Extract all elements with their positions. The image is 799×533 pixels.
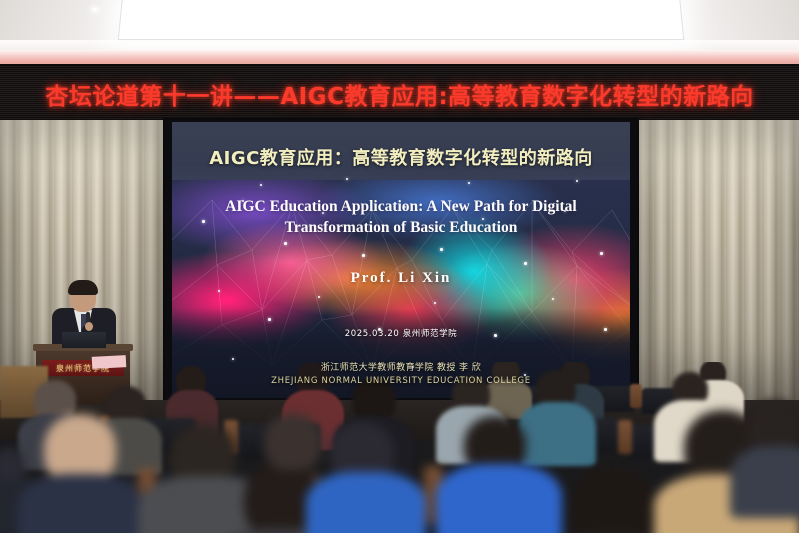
person-head [264,414,322,470]
slide-star-dot [218,290,220,292]
audience-area [0,362,799,533]
person-torso [518,402,596,466]
person-head [570,466,654,533]
slide-presenter-name: Prof. Li Xin [172,270,630,287]
slide-title-cn: AIGC教育应用：高等教育数字化转型的新路向 [172,144,630,170]
slide-star-dot [346,178,348,180]
slide-star-dot [524,262,527,265]
presenter-hair [68,280,98,295]
slide-star-dot [318,296,320,298]
slide-star-dot [576,180,578,182]
led-banner: 杏坛论道第十一讲——AIGC教育应用:高等教育数字化转型的新路向 [0,64,799,125]
person-torso [436,464,562,533]
projection-screen-frame: AIGC教育应用：高等教育数字化转型的新路向 AIGC Education Ap… [165,120,637,402]
slide-star-dot [362,254,365,257]
seat-armrest [618,420,632,454]
person-torso [730,446,799,518]
slide-star-dot [434,302,436,304]
led-banner-text: 杏坛论道第十一讲——AIGC教育应用:高等教育数字化转型的新路向 [45,77,753,111]
lecture-hall-photo: 杏坛论道第十一讲——AIGC教育应用:高等教育数字化转型的新路向 [0,0,799,533]
slide-star-dot [268,318,271,321]
person-torso [18,474,144,533]
slide-star-dot [468,182,470,184]
slide-star-dot [440,248,443,251]
slide-star-dot [600,252,603,255]
presenter-hand [85,322,93,331]
projection-screen: AIGC教育应用：高等教育数字化转型的新路向 AIGC Education Ap… [172,122,630,398]
slide-star-dot [284,242,287,245]
ceiling-spotlight [140,26,145,29]
seat-armrest [630,384,642,408]
slide-affiliation-cn: 浙江师范大学教师教育学院 教授 李 欣 [172,360,630,373]
slide-affiliation-en: ZHEJIANG NORMAL UNIVERSITY EDUCATION COL… [172,376,630,386]
podium-laptop [62,332,106,348]
slide-date-place: 2025.03.20 泉州师范学院 [172,327,630,339]
slide-subtitle-en: AIGC Education Application: A New Path f… [200,196,602,238]
ceiling-light-panel [118,0,685,40]
ceiling-right-soffit [679,0,799,40]
ceiling-spotlight [92,8,97,11]
ceiling-left-soffit [0,0,128,40]
slide-star-dot [552,298,554,300]
slide-star-dot [260,184,262,186]
person-torso [306,472,426,533]
